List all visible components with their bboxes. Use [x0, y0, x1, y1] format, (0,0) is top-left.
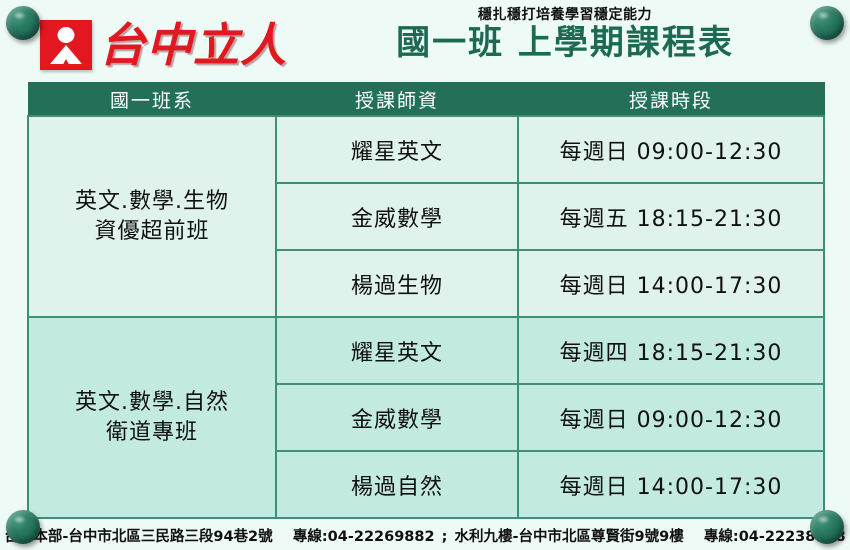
group-name-line1: 英文.數學.自然: [30, 388, 274, 418]
schedule-table-container: 國一班系 授課師資 授課時段 英文.數學.生物 資優超前班 耀星英文 每週日 0…: [27, 82, 823, 519]
slot-cell: 每週四 18:15-21:30: [518, 317, 824, 384]
teacher-cell: 金威數學: [276, 183, 518, 250]
page-title: 國一班 上學期課程表: [300, 25, 830, 62]
table-header-row: 國一班系 授課師資 授課時段: [28, 83, 824, 117]
tagline: 穩扎穩打培養學習穩定能力: [300, 6, 830, 24]
teacher-cell: 金威數學: [276, 384, 518, 451]
table-row: 英文.數學.生物 資優超前班 耀星英文 每週日 09:00-12:30: [28, 116, 824, 183]
schedule-table: 國一班系 授課師資 授課時段 英文.數學.生物 資優超前班 耀星英文 每週日 0…: [27, 82, 825, 519]
group-name-cell: 英文.數學.生物 資優超前班: [28, 116, 276, 317]
column-header-slot: 授課時段: [518, 83, 824, 117]
table-row: 英文.數學.自然 衛道專班 耀星英文 每週四 18:15-21:30: [28, 317, 824, 384]
footer-branch2-address: 水利九樓-台中市北區尊賢街9號9樓: [455, 529, 684, 545]
group-name-line1: 英文.數學.生物: [30, 187, 274, 217]
corner-sphere-bottom-right: [810, 510, 844, 544]
footer-branch1-phone: 專線:04-22269882: [293, 529, 435, 545]
slot-cell: 每週日 14:00-17:30: [518, 250, 824, 317]
slot-cell: 每週日 09:00-12:30: [518, 116, 824, 183]
corner-sphere-bottom-left: [6, 510, 40, 544]
column-header-class: 國一班系: [28, 83, 276, 117]
group-name-cell: 英文.數學.自然 衛道專班: [28, 317, 276, 518]
title-block: 穩扎穩打培養學習穩定能力 國一班 上學期課程表: [300, 2, 830, 63]
column-header-teacher: 授課師資: [276, 83, 518, 117]
corner-sphere-top-left: [6, 6, 40, 40]
footer-branch1-address: 台中本部-台中市北區三民路三段94巷2號: [4, 529, 272, 545]
brand-name: 台中立人: [99, 22, 287, 68]
teacher-cell: 楊過自然: [276, 451, 518, 518]
slot-cell: 每週日 14:00-17:30: [518, 451, 824, 518]
figure-legs-notch: [60, 59, 72, 70]
teacher-cell: 耀星英文: [276, 116, 518, 183]
slot-cell: 每週日 09:00-12:30: [518, 384, 824, 451]
group-name-line2: 衛道專班: [30, 418, 274, 448]
person-figure-icon: [40, 20, 92, 70]
page-header: 台中立人 穩扎穩打培養學習穩定能力 國一班 上學期課程表: [0, 0, 850, 82]
figure-head: [58, 27, 75, 43]
brand-logo: 台中立人: [40, 20, 287, 70]
footer-separator: ;: [440, 529, 450, 545]
slot-cell: 每週五 18:15-21:30: [518, 183, 824, 250]
corner-sphere-top-right: [810, 6, 844, 40]
group-name-line2: 資優超前班: [30, 217, 274, 247]
footer-contact-bar: 台中本部-台中市北區三民路三段94巷2號 專線:04-22269882 ; 水利…: [0, 525, 850, 546]
teacher-cell: 楊過生物: [276, 250, 518, 317]
teacher-cell: 耀星英文: [276, 317, 518, 384]
